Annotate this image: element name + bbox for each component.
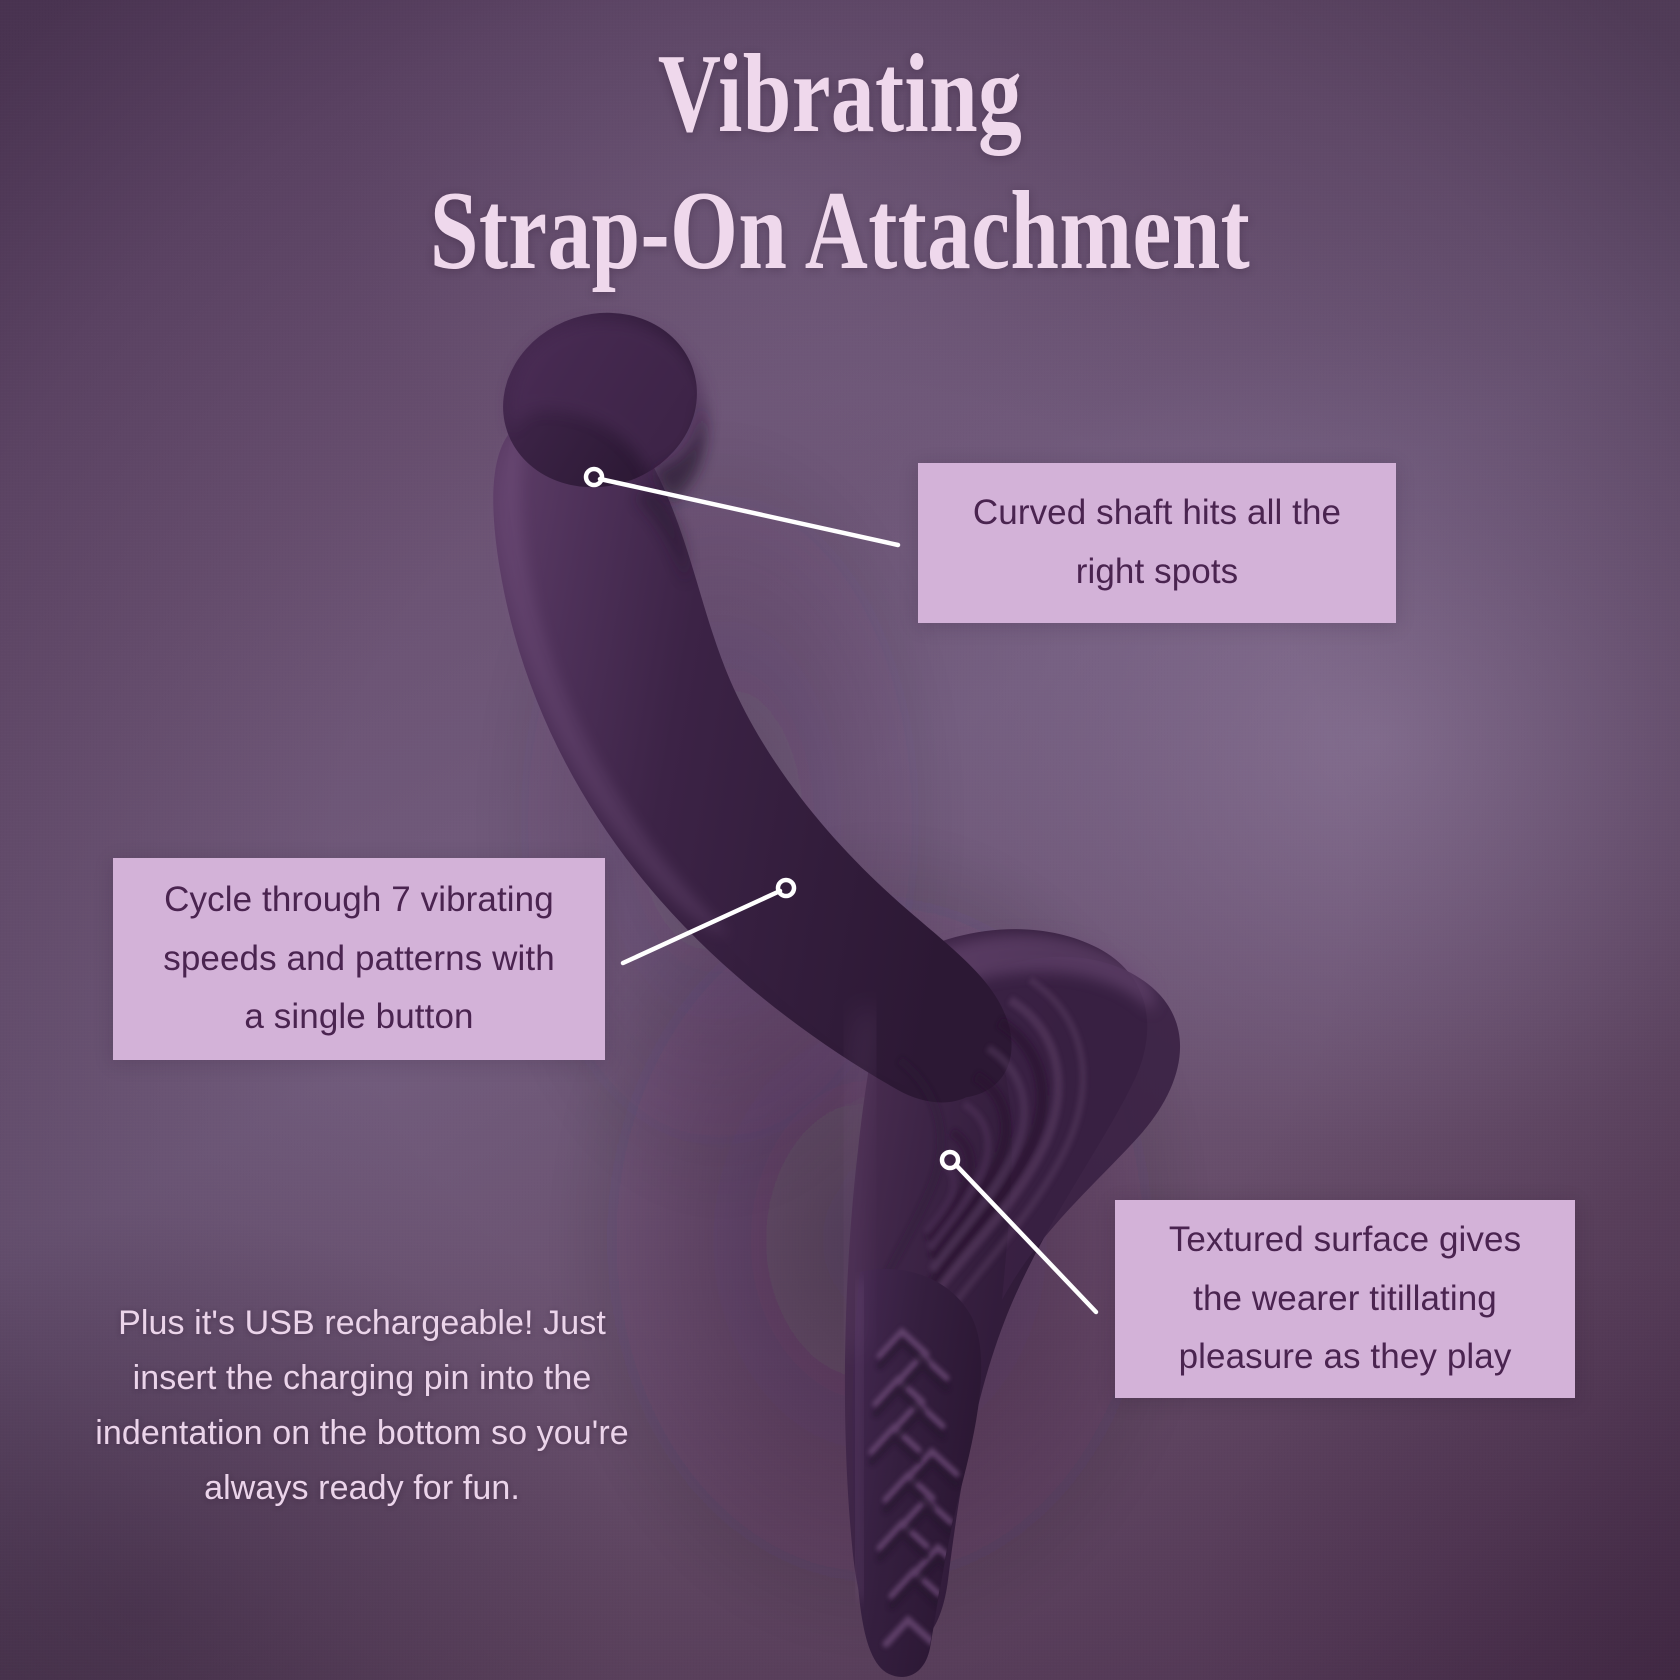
callout-curved-shaft-text: Curved shaft hits all the right spots — [973, 484, 1341, 602]
callout-speeds-text: Cycle through 7 vibrating speeds and pat… — [163, 871, 555, 1047]
product-infographic: Vibrating Strap-On Attachment Curved sha… — [0, 0, 1680, 1680]
leader-dot-textured — [942, 1152, 958, 1168]
callout-textured-surface: Textured surface gives the wearer titill… — [1115, 1200, 1575, 1398]
callout-vibration-speeds: Cycle through 7 vibrating speeds and pat… — [113, 858, 605, 1060]
callout-textured-text: Textured surface gives the wearer titill… — [1169, 1211, 1521, 1387]
leader-dot-speeds — [778, 880, 794, 896]
leader-line-curved-shaft — [600, 479, 898, 545]
leader-line-textured — [956, 1165, 1096, 1312]
callout-curved-shaft: Curved shaft hits all the right spots — [918, 463, 1396, 623]
usb-rechargeable-note: Plus it's USB rechargeable! Just insert … — [62, 1296, 662, 1516]
leader-line-speeds — [623, 891, 780, 963]
